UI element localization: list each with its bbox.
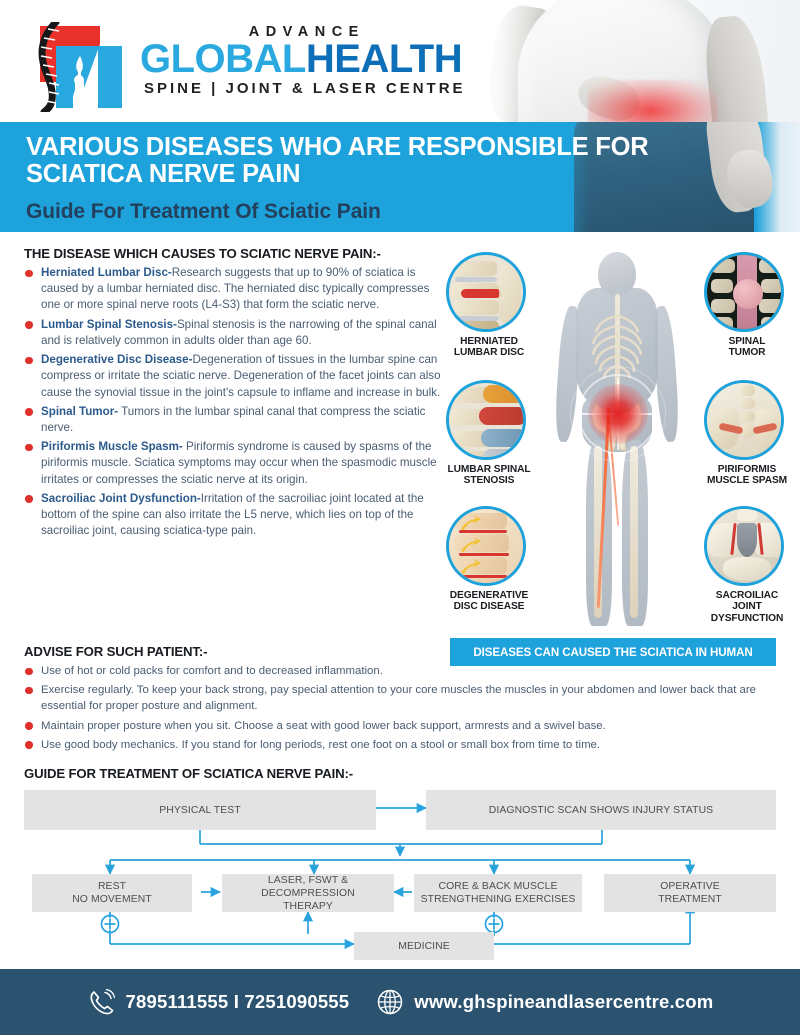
sacroiliac-dysfunction-icon bbox=[704, 506, 784, 586]
label-line-2: DISC DISEASE bbox=[446, 601, 532, 612]
label-line-2: STENOSIS bbox=[446, 475, 532, 486]
list-item: Herniated Lumbar Disc-Research suggests … bbox=[24, 265, 444, 314]
flow-box-laser-therapy[interactable]: LASER, FSWT & DECOMPRESSION THERAPY bbox=[222, 874, 394, 912]
brand-logo[interactable]: ADVANCE GLOBALHEALTH SPINE | JOINT & LAS… bbox=[22, 22, 466, 110]
list-item: Lumbar Spinal Stenosis-Spinal stenosis i… bbox=[24, 317, 444, 349]
circle-label: LUMBAR SPINAL STENOSIS bbox=[446, 464, 532, 487]
anatomy-circle-sacroiliac-dysfunction[interactable]: SACROILIAC JOINT DYSFUNCTION bbox=[704, 506, 790, 624]
banner-title: VARIOUS DISEASES WHO ARE RESPONSIBLE FOR… bbox=[26, 134, 649, 187]
list-item: Use of hot or cold packs for comfort and… bbox=[24, 663, 776, 679]
flow-box-line-1: CORE & BACK MUSCLE bbox=[438, 880, 557, 893]
flow-box-line-1: REST bbox=[98, 880, 126, 893]
circle-label: DEGENERATIVE DISC DISEASE bbox=[446, 590, 532, 613]
list-item: Maintain proper posture when you sit. Ch… bbox=[24, 718, 776, 734]
figure-femur-right bbox=[630, 446, 638, 618]
treatment-flowchart: PHYSICAL TEST DIAGNOSTIC SCAN SHOWS INJU… bbox=[24, 786, 776, 956]
anatomy-circle-piriformis-spasm[interactable]: PIRIFORMIS MUSCLE SPASM bbox=[704, 380, 790, 487]
label-line-1: LUMBAR SPINAL bbox=[446, 464, 532, 475]
label-line-2: MUSCLE SPASM bbox=[704, 475, 790, 486]
brand-main: GLOBALHEALTH bbox=[140, 40, 466, 79]
cause-term: Sacroiliac Joint Dysfunction- bbox=[41, 492, 201, 505]
anatomy-circle-degenerative-disc[interactable]: DEGENERATIVE DISC DISEASE bbox=[446, 506, 532, 613]
circle-label: SPINAL TUMOR bbox=[704, 336, 790, 359]
page-header: ADVANCE GLOBALHEALTH SPINE | JOINT & LAS… bbox=[0, 0, 800, 122]
label-line-1: SACROILIAC JOINT bbox=[704, 590, 790, 613]
list-item: Exercise regularly. To keep your back st… bbox=[24, 682, 776, 714]
hero-photo-fade bbox=[470, 0, 540, 122]
label-line-2: LUMBAR DISC bbox=[446, 347, 532, 358]
advise-list: Use of hot or cold packs for comfort and… bbox=[24, 663, 776, 753]
list-item: Degenerative Disc Disease-Degeneration o… bbox=[24, 352, 444, 401]
logo-blue-block-2 bbox=[98, 46, 122, 108]
flow-box-line-1: LASER, FSWT & DECOMPRESSION bbox=[226, 874, 390, 900]
spine-logo-icon bbox=[22, 22, 134, 110]
circle-label: PIRIFORMIS MUSCLE SPASM bbox=[704, 464, 790, 487]
footer-website-group[interactable]: www.ghspineandlasercentre.com bbox=[377, 989, 713, 1015]
causes-list: Herniated Lumbar Disc-Research suggests … bbox=[24, 265, 444, 540]
flow-box-operative-treatment[interactable]: OPERATIVE TREATMENT bbox=[604, 874, 776, 912]
flow-box-rest-no-movement[interactable]: REST NO MOVEMENT bbox=[32, 874, 192, 912]
label-line-2: TUMOR bbox=[704, 347, 790, 358]
list-item: Sacroiliac Joint Dysfunction-Irritation … bbox=[24, 491, 444, 540]
banner-title-line-1: VARIOUS DISEASES WHO ARE RESPONSIBLE FOR bbox=[26, 134, 649, 161]
advise-section: ADVISE FOR SUCH PATIENT:- Use of hot or … bbox=[24, 644, 776, 756]
piriformis-spasm-icon bbox=[704, 380, 784, 460]
cause-term: Degenerative Disc Disease- bbox=[41, 353, 192, 366]
anatomy-panel: HERNIATED LUMBAR DISC SPINAL TUMOR bbox=[446, 248, 794, 630]
list-item: Use good body mechanics. If you stand fo… bbox=[24, 737, 776, 753]
cause-term: Piriformis Muscle Spasm- bbox=[41, 440, 183, 453]
knee-joint-icon bbox=[66, 56, 96, 110]
footer-phone-number: 7895111555 I 7251090555 bbox=[126, 991, 350, 1013]
list-item: Spinal Tumor- Tumors in the lumbar spina… bbox=[24, 404, 444, 436]
circle-label: SACROILIAC JOINT DYSFUNCTION bbox=[704, 590, 790, 624]
label-line-1: SPINAL bbox=[704, 336, 790, 347]
banner-subtitle: Guide For Treatment Of Sciatic Pain bbox=[26, 200, 381, 224]
causes-heading: THE DISEASE WHICH CAUSES TO SCIATIC NERV… bbox=[24, 246, 444, 261]
brand-tagline: SPINE | JOINT & LASER CENTRE bbox=[140, 80, 466, 97]
list-item: Piriformis Muscle Spasm- Piriformis synd… bbox=[24, 439, 444, 488]
footer-phone-group[interactable]: 7895111555 I 7251090555 bbox=[87, 988, 350, 1016]
globe-icon bbox=[377, 989, 403, 1015]
tumor-mass bbox=[733, 279, 763, 309]
human-skeleton-sciatic-nerve-figure bbox=[542, 248, 692, 630]
degenerative-disc-icon bbox=[446, 506, 526, 586]
label-line-1: PIRIFORMIS bbox=[704, 464, 790, 475]
advise-heading: ADVISE FOR SUCH PATIENT:- bbox=[24, 644, 776, 659]
hero-photo bbox=[470, 0, 800, 122]
flowchart-heading: GUIDE FOR TREATMENT OF SCIATICA NERVE PA… bbox=[24, 766, 353, 781]
phone-icon bbox=[87, 988, 115, 1016]
label-line-1: DEGENERATIVE bbox=[446, 590, 532, 601]
label-line-2: DYSFUNCTION bbox=[704, 613, 790, 624]
brand-wordmark: ADVANCE GLOBALHEALTH SPINE | JOINT & LAS… bbox=[140, 22, 466, 97]
title-banner: VARIOUS DISEASES WHO ARE RESPONSIBLE FOR… bbox=[0, 122, 800, 232]
footer-website-url: www.ghspineandlasercentre.com bbox=[414, 991, 713, 1013]
spinal-tumor-icon bbox=[704, 252, 784, 332]
brand-health: HEALTH bbox=[306, 37, 462, 81]
anatomy-circle-herniated-disc[interactable]: HERNIATED LUMBAR DISC bbox=[446, 252, 532, 359]
flow-box-line-2: STRENGTHENING EXERCISES bbox=[421, 893, 576, 906]
herniated-disc-icon bbox=[446, 252, 526, 332]
circle-label: HERNIATED LUMBAR DISC bbox=[446, 336, 532, 359]
flow-box-line-2: NO MOVEMENT bbox=[72, 893, 152, 906]
degeneration-arrows-icon bbox=[455, 513, 485, 586]
anatomy-circle-spinal-stenosis[interactable]: LUMBAR SPINAL STENOSIS bbox=[446, 380, 532, 487]
hero-pain-highlight bbox=[588, 80, 718, 122]
pain-epicenter bbox=[588, 384, 648, 444]
spinal-stenosis-icon bbox=[446, 380, 526, 460]
causes-section: THE DISEASE WHICH CAUSES TO SCIATIC NERV… bbox=[24, 246, 444, 543]
cause-term: Lumbar Spinal Stenosis- bbox=[41, 318, 177, 331]
cause-term: Herniated Lumbar Disc- bbox=[41, 266, 172, 279]
flow-box-line-1: OPERATIVE bbox=[660, 880, 720, 893]
label-line-1: HERNIATED bbox=[446, 336, 532, 347]
page-footer: 7895111555 I 7251090555 www.ghspineandla… bbox=[0, 969, 800, 1035]
flow-box-line-2: THERAPY bbox=[283, 900, 333, 913]
flow-box-medicine[interactable]: MEDICINE bbox=[354, 932, 494, 960]
banner-title-line-2: SCIATICA NERVE PAIN bbox=[26, 161, 649, 188]
flow-box-line-2: TREATMENT bbox=[658, 893, 722, 906]
flow-box-diagnostic-scan[interactable]: DIAGNOSTIC SCAN SHOWS INJURY STATUS bbox=[426, 790, 776, 830]
flow-box-core-back-muscle[interactable]: CORE & BACK MUSCLE STRENGTHENING EXERCIS… bbox=[414, 874, 582, 912]
brand-global: GLOBAL bbox=[140, 37, 306, 81]
anatomy-circle-spinal-tumor[interactable]: SPINAL TUMOR bbox=[704, 252, 790, 359]
cause-term: Spinal Tumor- bbox=[41, 405, 118, 418]
flow-box-physical-test[interactable]: PHYSICAL TEST bbox=[24, 790, 376, 830]
